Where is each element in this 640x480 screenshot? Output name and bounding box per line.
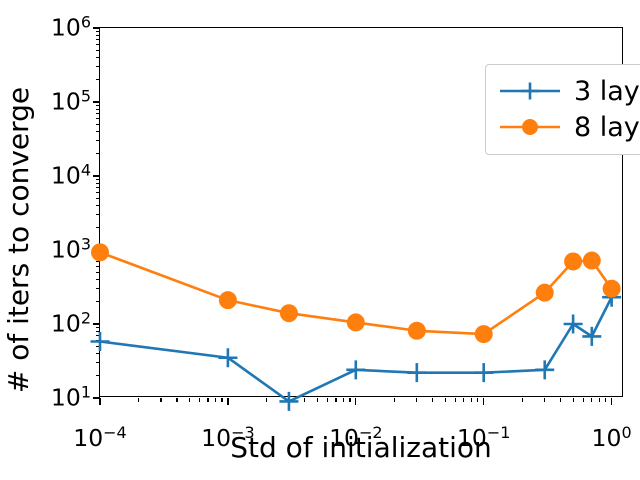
x-tick-minor bbox=[477, 398, 478, 402]
data-point-marker bbox=[91, 332, 110, 351]
data-point-marker bbox=[280, 304, 298, 322]
x-tick-major bbox=[483, 398, 484, 405]
y-tick-label: 101 bbox=[51, 386, 91, 410]
x-tick-major bbox=[227, 398, 228, 405]
x-tick-minor bbox=[215, 398, 216, 402]
x-tick-minor bbox=[591, 398, 592, 402]
data-point-marker bbox=[474, 363, 493, 382]
y-tick-label: 104 bbox=[51, 164, 91, 188]
x-tick-minor bbox=[445, 398, 446, 402]
x-tick-minor bbox=[207, 398, 208, 402]
y-tick-label: 102 bbox=[51, 312, 91, 336]
data-point-marker bbox=[564, 315, 583, 334]
y-tick-label: 106 bbox=[51, 16, 91, 40]
x-axis-label: Std of initialization bbox=[99, 434, 623, 462]
y-tick-label: 105 bbox=[51, 90, 91, 114]
x-tick-minor bbox=[599, 398, 600, 402]
x-tick-minor bbox=[455, 398, 456, 402]
x-tick-minor bbox=[544, 398, 545, 402]
data-point-marker bbox=[219, 291, 237, 309]
figure-canvas: 10−410−310−210−1100101102103104105106 3 … bbox=[0, 0, 640, 480]
legend-label-3-layers: 3 layers bbox=[574, 78, 640, 105]
data-point-marker bbox=[535, 360, 554, 379]
x-tick-minor bbox=[471, 398, 472, 402]
y-tick-major bbox=[93, 101, 100, 102]
x-tick-minor bbox=[583, 398, 584, 402]
x-tick-minor bbox=[138, 398, 139, 402]
y-tick-major bbox=[93, 397, 100, 398]
legend-marker-plus-icon bbox=[498, 79, 562, 103]
y-axis-label: # of iters to converge bbox=[2, 0, 36, 480]
data-point-marker bbox=[408, 322, 426, 340]
x-tick-minor bbox=[327, 398, 328, 402]
x-tick-minor bbox=[266, 398, 267, 402]
data-point-marker bbox=[346, 360, 365, 379]
x-tick-minor bbox=[189, 398, 190, 402]
x-tick-minor bbox=[317, 398, 318, 402]
x-tick-minor bbox=[221, 398, 222, 402]
data-point-marker bbox=[407, 363, 426, 382]
data-series-3-layers bbox=[91, 288, 622, 411]
legend-marker-circle-icon bbox=[498, 115, 562, 139]
data-point-marker bbox=[583, 252, 601, 270]
x-tick-minor bbox=[349, 398, 350, 402]
y-tick-label: 103 bbox=[51, 238, 91, 262]
y-tick-major bbox=[93, 175, 100, 176]
data-point-marker bbox=[91, 243, 109, 261]
data-point-marker bbox=[536, 284, 554, 302]
legend-box[interactable]: 3 layers 8 layers bbox=[485, 64, 640, 155]
legend-entry-3-layers[interactable]: 3 layers bbox=[498, 73, 640, 109]
x-tick-minor bbox=[160, 398, 161, 402]
data-point-marker bbox=[475, 325, 493, 343]
x-tick-minor bbox=[605, 398, 606, 402]
data-point-marker bbox=[347, 313, 365, 331]
x-tick-minor bbox=[432, 398, 433, 402]
x-tick-minor bbox=[176, 398, 177, 402]
y-tick-major bbox=[93, 323, 100, 324]
x-tick-minor bbox=[304, 398, 305, 402]
data-series-8-layers bbox=[91, 243, 621, 343]
x-tick-minor bbox=[199, 398, 200, 402]
x-tick-minor bbox=[335, 398, 336, 402]
x-tick-major bbox=[355, 398, 356, 405]
data-point-marker bbox=[582, 327, 601, 346]
x-tick-minor bbox=[463, 398, 464, 402]
x-tick-minor bbox=[560, 398, 561, 402]
data-point-marker bbox=[279, 392, 298, 411]
legend-label-8-layers: 8 layers bbox=[574, 114, 640, 141]
x-tick-major bbox=[611, 398, 612, 405]
x-tick-minor bbox=[573, 398, 574, 402]
plot-area: 10−410−310−210−1100101102103104105106 3 … bbox=[99, 27, 623, 397]
data-point-marker bbox=[218, 348, 237, 367]
x-tick-minor bbox=[394, 398, 395, 402]
x-tick-minor bbox=[522, 398, 523, 402]
legend-entry-8-layers[interactable]: 8 layers bbox=[498, 109, 640, 145]
series-line bbox=[100, 297, 612, 401]
y-axis-label-wrapper: # of iters to converge bbox=[2, 0, 36, 480]
y-tick-major bbox=[93, 27, 100, 28]
x-tick-minor bbox=[416, 398, 417, 402]
x-tick-major bbox=[99, 398, 100, 405]
x-tick-minor bbox=[343, 398, 344, 402]
data-point-marker bbox=[603, 280, 621, 298]
data-point-marker bbox=[564, 252, 582, 270]
